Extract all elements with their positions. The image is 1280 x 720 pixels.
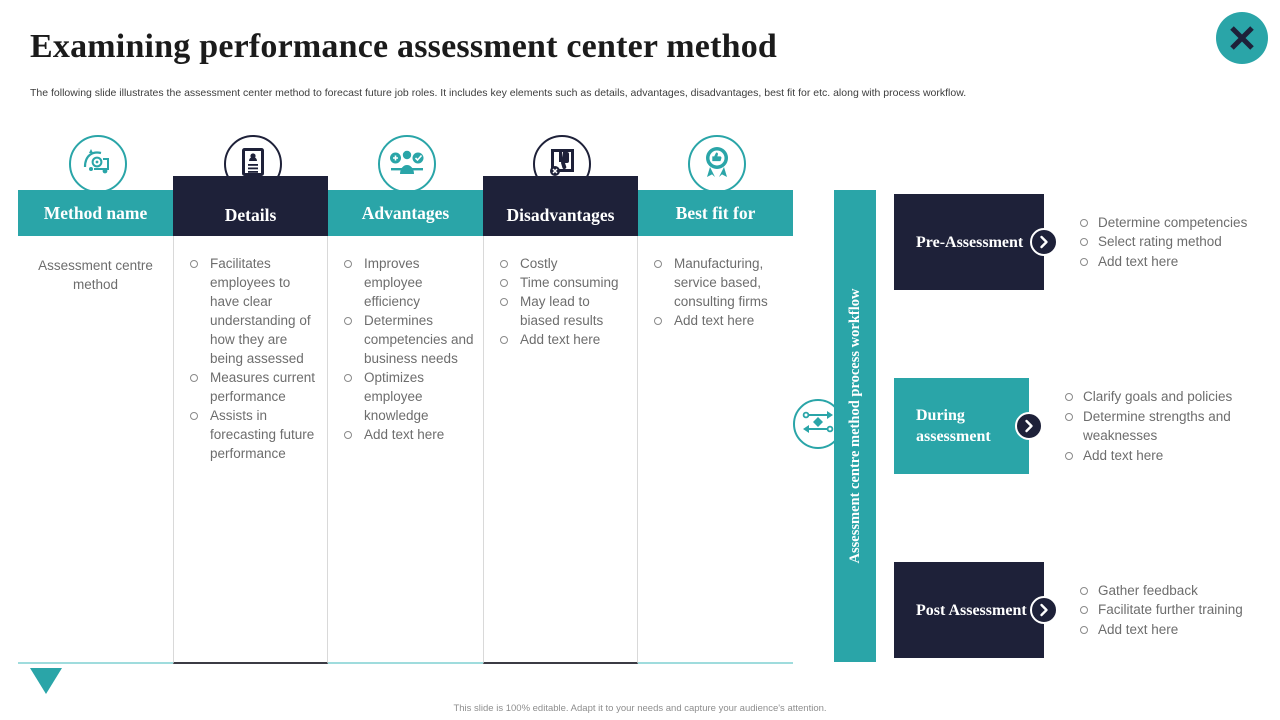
workflow-step-during-assessment[interactable]: During assessment Clarify goals and poli… bbox=[894, 378, 1280, 474]
list-item: Manufacturing, service based, consulting… bbox=[646, 254, 785, 311]
workflow-bar-label: Assessment centre method process workflo… bbox=[834, 190, 876, 662]
table-cell-advantages: Improves employee efficiency Determines … bbox=[328, 236, 483, 664]
list-item: Costly bbox=[492, 254, 629, 273]
table-cell-best-fit-for: Manufacturing, service based, consulting… bbox=[638, 236, 793, 664]
icon-badge-method-name bbox=[69, 135, 127, 193]
list-item: Improves employee efficiency bbox=[336, 254, 475, 311]
page-subtitle: The following slide illustrates the asse… bbox=[30, 86, 1150, 100]
list-item: Determine competencies bbox=[1078, 213, 1247, 233]
list-item: Add text here bbox=[1078, 252, 1247, 272]
table-cell-disadvantages: Costly Time consuming May lead to biased… bbox=[483, 236, 638, 664]
workflow-step-items: Gather feedback Facilitate further train… bbox=[1078, 581, 1243, 640]
triangle-marker bbox=[30, 668, 62, 694]
chevron-right-icon[interactable] bbox=[1015, 412, 1043, 440]
list-item: May lead to biased results bbox=[492, 292, 629, 330]
list-item: Add text here bbox=[336, 425, 475, 444]
list-item: Time consuming bbox=[492, 273, 629, 292]
column-header-advantages[interactable]: Advantages bbox=[328, 190, 483, 236]
list-item: Clarify goals and policies bbox=[1063, 387, 1280, 407]
footer-note: This slide is 100% editable. Adapt it to… bbox=[0, 703, 1280, 714]
icon-badge-advantages bbox=[378, 135, 436, 193]
close-button[interactable] bbox=[1216, 12, 1268, 64]
list-item: Determine strengths and weaknesses bbox=[1063, 407, 1280, 446]
list-item: Add text here bbox=[492, 330, 629, 349]
table-header-row: Method name Details Advantages Disadvant… bbox=[18, 190, 810, 236]
list-item: Add text here bbox=[646, 311, 785, 330]
chevron-right-icon[interactable] bbox=[1030, 596, 1058, 624]
workflow-step-pre-assessment[interactable]: Pre-Assessment Determine competencies Se… bbox=[894, 194, 1247, 290]
list-item: Optimizes employee knowledge bbox=[336, 368, 475, 425]
workflow-process-icon bbox=[81, 145, 115, 184]
column-header-disadvantages[interactable]: Disadvantages bbox=[483, 176, 638, 236]
comparison-table: Method name Details Advantages Disadvant… bbox=[18, 190, 810, 664]
page-title: Examining performance assessment center … bbox=[30, 28, 777, 66]
list-item: Assists in forecasting future performanc… bbox=[182, 406, 319, 463]
table-body-row: Assessment centre method Facilitates emp… bbox=[18, 236, 810, 664]
workflow-step-box[interactable]: Post Assessment bbox=[894, 562, 1044, 658]
method-name-value: Assessment centre method bbox=[26, 254, 165, 294]
workflow-step-post-assessment[interactable]: Post Assessment Gather feedback Facilita… bbox=[894, 562, 1243, 658]
list-item: Add text here bbox=[1078, 620, 1243, 640]
slide-canvas: Examining performance assessment center … bbox=[0, 0, 1280, 720]
list-item: Select rating method bbox=[1078, 232, 1247, 252]
list-item: Facilitate further training bbox=[1078, 600, 1243, 620]
workflow-step-label: During assessment bbox=[916, 405, 1029, 447]
workflow-step-label: Post Assessment bbox=[916, 600, 1027, 621]
list-item: Measures current performance bbox=[182, 368, 319, 406]
workflow-step-label: Pre-Assessment bbox=[916, 232, 1023, 253]
workflow-side-bar: Assessment centre method process workflo… bbox=[834, 190, 876, 662]
workflow-step-items: Determine competencies Select rating met… bbox=[1078, 213, 1247, 272]
workflow-step-box[interactable]: Pre-Assessment bbox=[894, 194, 1044, 290]
list-item: Determines competencies and business nee… bbox=[336, 311, 475, 368]
table-cell-method-name: Assessment centre method bbox=[18, 236, 173, 664]
list-item: Add text here bbox=[1063, 446, 1280, 466]
chevron-right-icon[interactable] bbox=[1030, 228, 1058, 256]
column-header-details[interactable]: Details bbox=[173, 176, 328, 236]
workflow-step-items: Clarify goals and policies Determine str… bbox=[1063, 387, 1280, 465]
icon-badge-best-fit-for bbox=[688, 135, 746, 193]
workflow-step-box[interactable]: During assessment bbox=[894, 378, 1029, 474]
list-item: Facilitates employees to have clear unde… bbox=[182, 254, 319, 368]
table-cell-details: Facilitates employees to have clear unde… bbox=[173, 236, 328, 664]
workflow-cycle-icon bbox=[801, 407, 835, 442]
column-header-method-name[interactable]: Method name bbox=[18, 190, 173, 236]
list-item: Gather feedback bbox=[1078, 581, 1243, 601]
award-ribbon-icon bbox=[701, 145, 733, 184]
column-header-best-fit-for[interactable]: Best fit for bbox=[638, 190, 793, 236]
person-plus-check-icon bbox=[389, 147, 425, 182]
